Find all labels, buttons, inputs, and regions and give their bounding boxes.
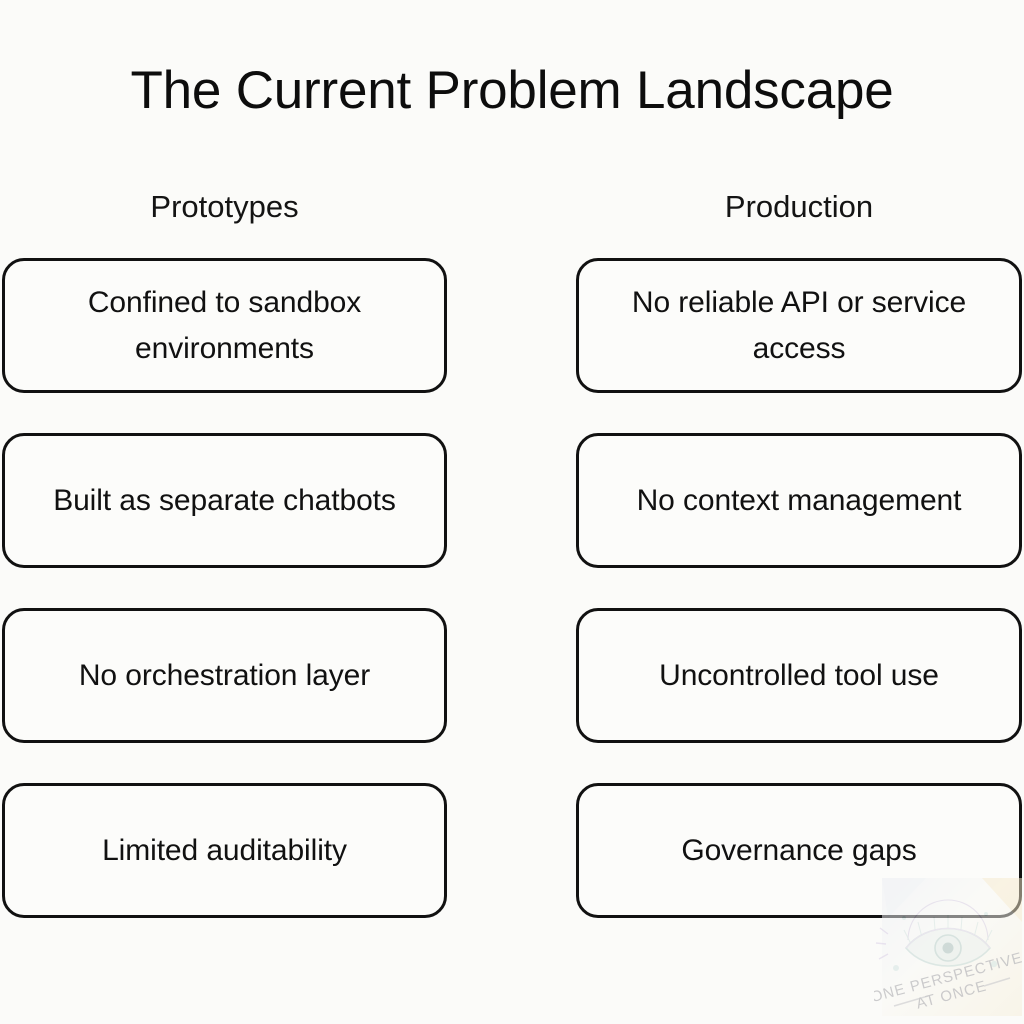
watermark-line2: AT ONCE — [914, 977, 988, 1012]
card-prototypes-3[interactable]: No orchestration layer — [2, 608, 447, 743]
card-label: Limited auditability — [102, 828, 347, 874]
card-prototypes-4[interactable]: Limited auditability — [2, 783, 447, 918]
card-label: Uncontrolled tool use — [659, 653, 939, 699]
card-production-1[interactable]: No reliable API or service access — [576, 258, 1022, 393]
card-production-3[interactable]: Uncontrolled tool use — [576, 608, 1022, 743]
card-label: Built as separate chatbots — [53, 478, 396, 524]
card-label: No context management — [637, 478, 962, 524]
page-title: The Current Problem Landscape — [0, 62, 1024, 119]
column-header-production: Production — [576, 188, 1022, 225]
card-production-2[interactable]: No context management — [576, 433, 1022, 568]
card-prototypes-1[interactable]: Confined to sandbox environments — [2, 258, 447, 393]
card-label: Confined to sandbox environments — [31, 280, 418, 371]
card-prototypes-2[interactable]: Built as separate chatbots — [2, 433, 447, 568]
column-production: No reliable API or service access No con… — [576, 258, 1022, 918]
card-production-4[interactable]: Governance gaps — [576, 783, 1022, 918]
card-label: No orchestration layer — [79, 653, 370, 699]
card-label: Governance gaps — [681, 828, 916, 874]
column-prototypes: Confined to sandbox environments Built a… — [2, 258, 447, 918]
column-header-prototypes: Prototypes — [2, 188, 447, 225]
slide-canvas: The Current Problem Landscape Prototypes… — [0, 0, 1024, 1024]
watermark-line1: ONE PERSPECTIVE — [874, 949, 1022, 1006]
card-label: No reliable API or service access — [605, 280, 993, 371]
